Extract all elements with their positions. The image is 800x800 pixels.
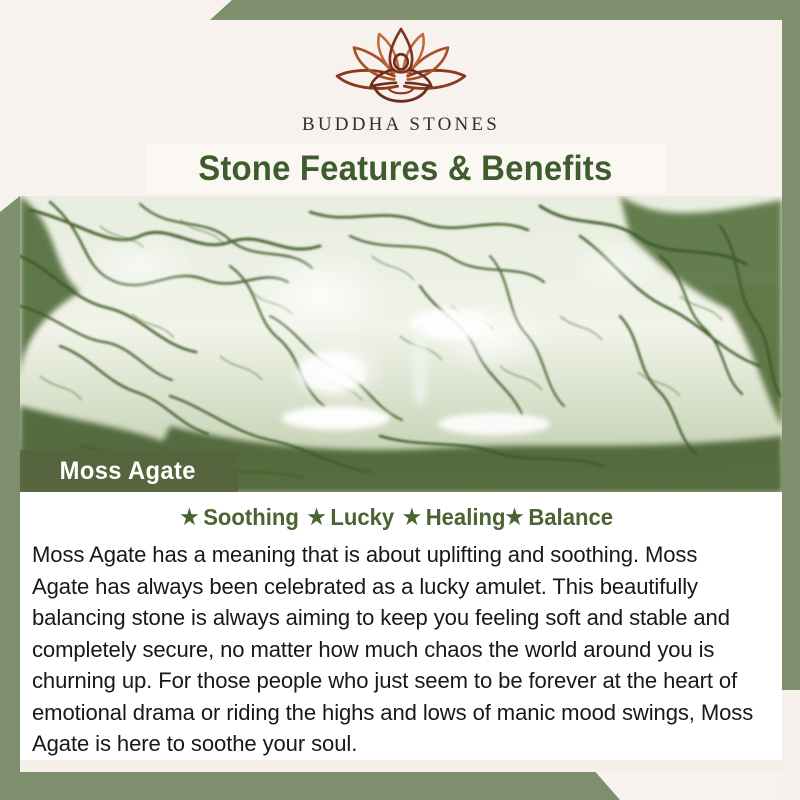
page-title: Stone Features & Benefits	[198, 149, 612, 189]
benefit-item-healing: Healing	[421, 504, 506, 531]
star-icon: ★	[307, 507, 325, 528]
benefit-list: ★ Soothing ★ Lucky ★ Healing ★ Balance	[35, 492, 767, 531]
card-base-sliver	[20, 760, 782, 772]
stone-name-banner: Moss Agate	[20, 450, 238, 492]
poster-header: BUDDHA STONES Stone Features & Benefits	[20, 8, 782, 196]
frame-right-band	[782, 0, 800, 690]
stone-name: Moss Agate	[25, 457, 196, 486]
stone-photo	[20, 196, 782, 492]
page-title-plate: Stone Features & Benefits	[145, 144, 665, 193]
benefit-item-balance: Balance	[524, 504, 622, 531]
brand-logo: BUDDHA STONES	[20, 24, 782, 136]
lotus-meditation-figure-icon	[317, 24, 485, 108]
moss-agate-texture	[20, 196, 782, 492]
frame-left-band	[0, 196, 20, 800]
product-info-poster: BUDDHA STONES Stone Features & Benefits	[0, 0, 800, 800]
benefit-item-soothing: Soothing	[198, 504, 307, 531]
benefit-item-lucky: Lucky	[326, 504, 403, 531]
star-icon: ★	[505, 507, 523, 528]
star-icon: ★	[180, 507, 198, 528]
stone-description: Moss Agate has a meaning that is about u…	[32, 539, 759, 760]
stone-info-card: ★ Soothing ★ Lucky ★ Healing ★ Balance M…	[20, 492, 782, 760]
brand-name: BUDDHA STONES	[302, 114, 500, 136]
star-icon: ★	[403, 507, 421, 528]
